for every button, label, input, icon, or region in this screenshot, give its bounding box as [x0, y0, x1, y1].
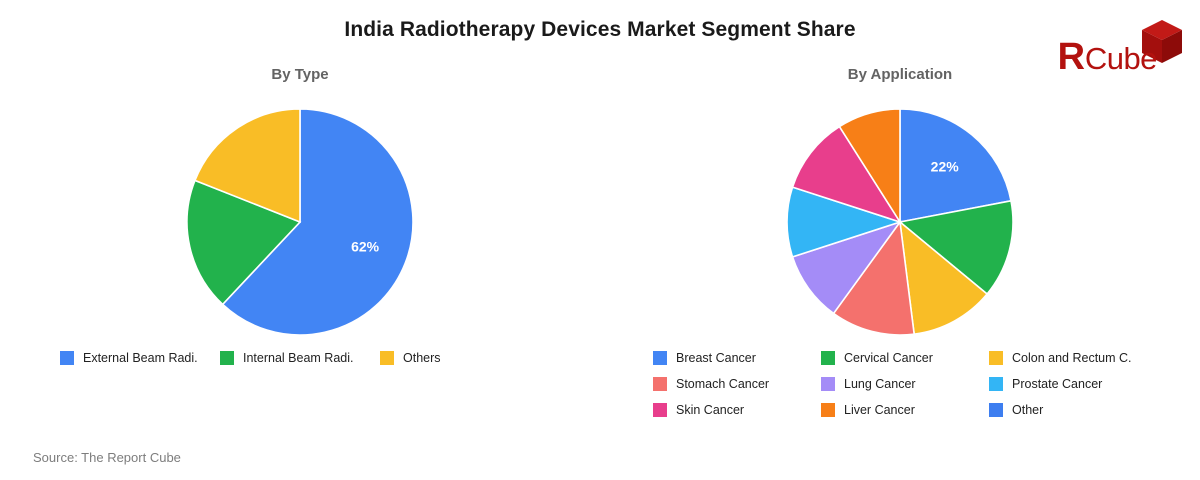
legend-item-label: Others: [403, 351, 441, 365]
legend-by-type: External Beam Radi.Internal Beam Radi.Ot…: [20, 351, 580, 377]
legend-swatch-icon: [989, 403, 1003, 417]
legend-swatch-icon: [220, 351, 234, 365]
legend-item-cervical-cancer[interactable]: Cervical Cancer: [821, 351, 989, 365]
pie-slice-datalabel: 62%: [351, 239, 380, 255]
legend-swatch-icon: [821, 377, 835, 391]
legend-item-external-beam-radi[interactable]: External Beam Radi.: [60, 351, 220, 365]
source-note: Source: The Report Cube: [33, 450, 181, 465]
legend-row: Skin CancerLiver CancerOther: [620, 403, 1180, 417]
legend-item-label: Cervical Cancer: [844, 351, 933, 365]
legend-swatch-icon: [989, 351, 1003, 365]
legend-item-colon-and-rectum-c[interactable]: Colon and Rectum C.: [989, 351, 1157, 365]
pie-chart-by-application: 22%: [620, 106, 1180, 338]
legend-item-stomach-cancer[interactable]: Stomach Cancer: [653, 377, 821, 391]
pie-by-type-svg: 62%: [184, 106, 416, 338]
legend-item-label: Prostate Cancer: [1012, 377, 1102, 391]
legend-item-other[interactable]: Other: [989, 403, 1157, 417]
chart-canvas: India Radiotherapy Devices Market Segmen…: [0, 0, 1200, 480]
pie-slices-group: [187, 109, 413, 335]
legend-item-others[interactable]: Others: [380, 351, 540, 365]
legend-swatch-icon: [380, 351, 394, 365]
pie-by-application-svg: 22%: [784, 106, 1016, 338]
legend-swatch-icon: [821, 403, 835, 417]
legend-swatch-icon: [821, 351, 835, 365]
legend-swatch-icon: [653, 377, 667, 391]
subtitle-by-type: By Type: [20, 66, 580, 83]
pie-datalabels-group: 22%: [931, 159, 960, 175]
legend-item-label: Colon and Rectum C.: [1012, 351, 1132, 365]
legend-item-lung-cancer[interactable]: Lung Cancer: [821, 377, 989, 391]
legend-swatch-icon: [653, 351, 667, 365]
pie-slice-datalabel: 22%: [931, 159, 960, 175]
pie-chart-by-type: 62%: [20, 106, 580, 338]
legend-row: Breast CancerCervical CancerColon and Re…: [620, 351, 1180, 365]
legend-item-label: External Beam Radi.: [83, 351, 198, 365]
subtitle-by-application: By Application: [620, 66, 1180, 83]
legend-item-skin-cancer[interactable]: Skin Cancer: [653, 403, 821, 417]
legend-row: External Beam Radi.Internal Beam Radi.Ot…: [20, 351, 580, 365]
legend-item-label: Stomach Cancer: [676, 377, 769, 391]
panel-by-application: By Application 22% Breast CancerCervical…: [620, 60, 1180, 440]
legend-item-breast-cancer[interactable]: Breast Cancer: [653, 351, 821, 365]
legend-item-label: Skin Cancer: [676, 403, 744, 417]
legend-item-prostate-cancer[interactable]: Prostate Cancer: [989, 377, 1157, 391]
legend-item-liver-cancer[interactable]: Liver Cancer: [821, 403, 989, 417]
legend-item-label: Other: [1012, 403, 1043, 417]
legend-row: Stomach CancerLung CancerProstate Cancer: [620, 377, 1180, 391]
page-title: India Radiotherapy Devices Market Segmen…: [0, 18, 1200, 42]
pie-datalabels-group: 62%: [351, 239, 380, 255]
legend-item-label: Internal Beam Radi.: [243, 351, 353, 365]
legend-item-label: Lung Cancer: [844, 377, 916, 391]
legend-by-application: Breast CancerCervical CancerColon and Re…: [620, 351, 1180, 429]
panel-by-type: By Type 62% External Beam Radi.Internal …: [20, 60, 580, 440]
legend-swatch-icon: [60, 351, 74, 365]
pie-slices-group: [787, 109, 1013, 335]
legend-swatch-icon: [989, 377, 1003, 391]
legend-item-label: Breast Cancer: [676, 351, 756, 365]
legend-item-label: Liver Cancer: [844, 403, 915, 417]
legend-swatch-icon: [653, 403, 667, 417]
legend-item-internal-beam-radi[interactable]: Internal Beam Radi.: [220, 351, 380, 365]
